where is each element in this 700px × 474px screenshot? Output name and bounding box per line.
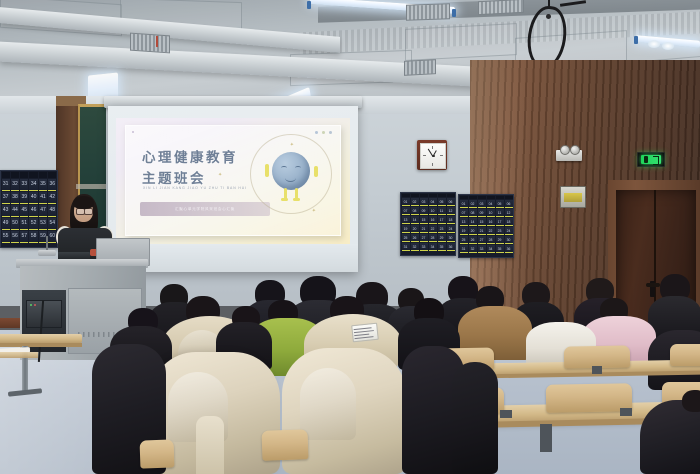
seat-number-cell: 24 [447,225,455,233]
seat-number-cell: 52 [29,218,37,230]
seat-number-cell: 02 [469,200,477,208]
chair-back [140,439,175,468]
desk-support-bracket [540,424,552,452]
chair-mount [620,408,632,416]
seat-board-header-cell [487,196,495,200]
seat-board-header-cell [447,194,455,198]
seat-number-cell: 23 [496,227,504,235]
seat-board-row: 070809101112 [401,207,455,216]
air-vent [406,3,450,21]
seat-number-cell: 05 [496,200,504,208]
seat-number-cell: 26 [411,234,419,242]
seat-board-header-cell [496,196,504,200]
seat-number-cell: 31 [402,243,410,251]
seat-number-cell: 19 [460,227,468,235]
seat-number-cell: 36 [505,245,513,253]
seat-number-cell: 57 [20,231,28,243]
clock-tick [423,155,426,156]
seat-board-row: 131415161718 [401,216,455,225]
seat-number-cell: 03 [478,200,486,208]
presenter-fringe [73,196,94,209]
mascot-icon [272,152,310,190]
puffer-highlight [300,368,356,440]
seat-board-row: 010203040506 [459,200,513,209]
seat-number-cell: 17 [496,218,504,226]
seat-number-cell: 53 [39,218,47,230]
seat-number-cell: 38 [11,192,19,204]
air-vent [130,33,170,54]
seat-number-cell: 40 [29,192,37,204]
seat-board-row: 252627282930 [459,236,513,245]
chair-back [670,344,700,366]
mascot-mouth [285,174,296,182]
seat-number-cell: 05 [438,198,446,206]
seat-board-header-cell [20,172,28,178]
slide-decor-dot [322,131,325,134]
seat-number-cell: 55 [2,231,10,243]
slide-subtitle-text: 汇聚心单元学院风采班会心汇聚 [175,207,235,212]
seat-number-cell: 39 [20,192,28,204]
clock-tick [440,155,443,156]
foreground-dark-jacket [452,362,498,474]
seat-number-cell: 30 [505,236,513,244]
seat-number-cell: 24 [505,227,513,235]
seat-board-row: 555657585960 [1,230,57,243]
desk-microphone [38,250,56,256]
seat-number-cell: 26 [469,236,477,244]
seat-number-cell: 03 [420,198,428,206]
seat-number-cell: 12 [447,207,455,215]
seat-number-cell: 25 [460,236,468,244]
seat-number-cell: 42 [48,192,56,204]
seat-number-cell: 32 [469,245,477,253]
seat-number-cell: 50 [11,218,19,230]
seat-board-row: 131415161718 [459,218,513,227]
seat-number-board-left: 3132333435363738394041424344454647484950… [0,170,58,248]
seat-number-cell: 33 [20,179,28,191]
seat-number-cell: 06 [505,200,513,208]
seat-board-header-row [1,171,57,178]
mascot-arm [314,166,318,177]
seat-number-cell: 32 [411,243,419,251]
seat-board-header-cell [411,194,419,198]
slide-subtitle-band: 汇聚心单元学院风采班会心汇聚 [140,202,270,216]
seat-board-row: 010203040506 [401,198,455,207]
electrical-panel[interactable] [560,186,586,208]
seat-board-header-cell [420,194,428,198]
recessed-lamp [662,42,674,50]
mascot-foot [293,198,300,201]
side-desk-top [0,334,82,343]
seat-number-cell: 44 [11,205,19,217]
student-head [682,390,700,412]
podium-equipment [26,300,62,328]
mascot-eye [281,166,287,170]
seat-number-cell: 20 [411,225,419,233]
mascot-foot [281,198,288,201]
seat-board-row: 313233343536 [1,178,57,191]
chalk-tray [76,184,106,189]
seat-number-cell: 58 [29,231,37,243]
seat-number-cell: 54 [48,218,56,230]
presenter-glasses-right [84,208,93,215]
tube-end-cap [307,1,311,9]
seat-number-cell: 35 [39,179,47,191]
seat-number-cell: 33 [420,243,428,251]
seat-number-cell: 35 [438,243,446,251]
tag-line [354,330,374,333]
seat-number-cell: 23 [438,225,446,233]
slide-decor-dot [329,131,332,134]
seat-number-cell: 21 [478,227,486,235]
seat-number-board-right-1: 0102030405060708091011121314151617181920… [400,192,456,256]
seat-number-cell: 31 [460,245,468,253]
seat-number-cell: 22 [487,227,495,235]
seat-board-row: 373839404142 [1,191,57,204]
chair-mount [592,366,602,374]
seat-number-cell: 14 [411,216,419,224]
seat-number-cell: 15 [420,216,428,224]
seat-board-header-cell [438,194,446,198]
seat-board-header-cell [505,196,513,200]
vent-indicator [156,36,158,47]
seat-number-cell: 36 [447,243,455,251]
chair-back [261,429,308,461]
seat-number-cell: 41 [39,192,47,204]
equipment-led [30,304,32,306]
slide-title-line1: 心理健康教育 [142,146,238,166]
seat-number-cell: 13 [460,218,468,226]
mascot-eye [295,166,301,170]
emergency-lamp-head [560,145,570,155]
exit-sign [637,152,665,167]
clock-face [420,143,446,169]
door-handle[interactable] [646,283,660,287]
seat-board-row: 192021222324 [459,227,513,236]
emergency-lamp-head [570,145,580,155]
seat-board-row: 070809101112 [459,209,513,218]
wall-clock [417,140,447,170]
seat-board-row: 495051525354 [1,217,57,230]
seat-number-cell: 07 [402,207,410,215]
tube-end-cap [634,36,638,44]
air-vent [404,59,436,76]
classroom-photo-scene: 心理健康教育 主题班会 XIN LI JIAN KANG JIAO YU ZHU… [0,0,700,474]
slide-decor-dot [132,131,134,133]
emergency-light [556,150,582,161]
seat-number-cell: 14 [469,218,477,226]
seat-board-row: 313233343536 [401,243,455,252]
seat-number-cell: 27 [420,234,428,242]
seat-number-cell: 28 [487,236,495,244]
seat-board-header-row [401,193,455,198]
panel-breakers [564,193,582,202]
seat-number-cell: 16 [487,218,495,226]
seat-board-header-cell [460,196,468,200]
seat-number-cell: 09 [420,207,428,215]
seat-board-header-cell [11,172,19,178]
seat-number-cell: 37 [2,192,10,204]
seat-number-cell: 18 [447,216,455,224]
seat-board-header-cell [48,172,56,178]
seat-number-cell: 12 [505,209,513,217]
seat-board-row: 192021222324 [401,225,455,234]
clock-tick [432,146,433,149]
seat-number-cell: 34 [429,243,437,251]
tube-end-cap [452,9,456,17]
seat-number-cell: 34 [29,179,37,191]
seat-number-cell: 32 [11,179,19,191]
slide-decor-dot [315,131,318,134]
seat-board-row: 252627282930 [401,234,455,243]
seat-number-cell: 21 [420,225,428,233]
seat-number-cell: 19 [402,225,410,233]
seat-number-cell: 18 [505,218,513,226]
seat-board-header-cell [2,172,10,178]
seat-number-cell: 27 [478,236,486,244]
side-desk-shelf [0,352,38,358]
seat-number-cell: 13 [402,216,410,224]
seat-number-cell: 06 [447,198,455,206]
seat-number-cell: 01 [460,200,468,208]
seat-number-cell: 04 [429,198,437,206]
seat-number-cell: 07 [460,209,468,217]
exit-door-icon [653,156,659,165]
seat-number-cell: 20 [469,227,477,235]
seat-board-header-cell [429,194,437,198]
seat-number-cell: 56 [11,231,19,243]
seat-number-cell: 33 [478,245,486,253]
seat-number-cell: 35 [496,245,504,253]
puffer-fold [196,416,224,474]
seat-number-cell: 01 [402,198,410,206]
seat-number-cell: 29 [438,234,446,242]
seat-number-cell: 10 [429,207,437,215]
seat-number-cell: 47 [39,205,47,217]
seat-board-header-cell [402,194,410,198]
presentation-slide: 心理健康教育 主题班会 XIN LI JIAN KANG JIAO YU ZHU… [116,118,350,244]
seat-board-row: 313233343536 [459,245,513,254]
seat-board-header-cell [469,196,477,200]
seat-board-header-cell [39,172,47,178]
seat-number-cell: 08 [411,207,419,215]
equipment-led [34,304,36,306]
seat-number-cell: 45 [20,205,28,217]
seat-number-cell: 31 [2,179,10,191]
microphone-stem [46,236,48,251]
jacket-label-patch [351,323,379,343]
seat-number-cell: 15 [478,218,486,226]
seat-number-cell: 46 [29,205,37,217]
seat-number-cell: 51 [20,218,28,230]
seat-number-cell: 36 [48,179,56,191]
chair-mount [500,410,512,418]
air-vent [478,0,524,15]
running-man-icon [644,156,648,163]
seat-number-cell: 29 [496,236,504,244]
slide-card: 心理健康教育 主题班会 XIN LI JIAN KANG JIAO YU ZHU… [125,125,341,236]
seat-number-cell: 34 [487,245,495,253]
seat-number-cell: 30 [447,234,455,242]
ceiling-tile [405,23,517,61]
clock-tick [432,163,433,166]
seat-number-cell: 16 [429,216,437,224]
clock-center-pin [432,155,435,158]
seat-board-header-row [459,195,513,200]
seat-number-board-right-2: 0102030405060708091011121314151617181920… [458,194,514,258]
seat-number-cell: 02 [411,198,419,206]
seat-number-cell: 22 [429,225,437,233]
seat-number-cell: 09 [478,209,486,217]
seat-board-row: 434445464748 [1,204,57,217]
seat-number-cell: 11 [496,209,504,217]
sparkle-icon: ✦ [312,208,316,214]
seat-number-cell: 10 [487,209,495,217]
seat-number-cell: 28 [429,234,437,242]
slide-pinyin: XIN LI JIAN KANG JIAO YU ZHU TI BAN HUI [143,186,247,190]
seat-number-cell: 08 [469,209,477,217]
recessed-lamp [648,40,660,48]
seat-number-cell: 48 [48,205,56,217]
seat-number-cell: 49 [2,218,10,230]
exit-sign-glow [641,155,661,164]
sparkle-icon: ✦ [218,172,222,178]
seat-number-cell: 43 [2,205,10,217]
slide-title-line2: 主题班会 [142,167,206,187]
seat-board-header-cell [478,196,486,200]
control-keyboard[interactable] [58,252,90,259]
tag-line [355,336,374,339]
mascot-arm [265,164,269,177]
seat-number-cell: 25 [402,234,410,242]
seat-number-cell: 17 [438,216,446,224]
cable-clamp [546,14,551,19]
seat-number-cell: 04 [487,200,495,208]
seat-number-cell: 11 [438,207,446,215]
seat-board-header-cell [29,172,37,178]
side-desk-edge [0,343,82,347]
